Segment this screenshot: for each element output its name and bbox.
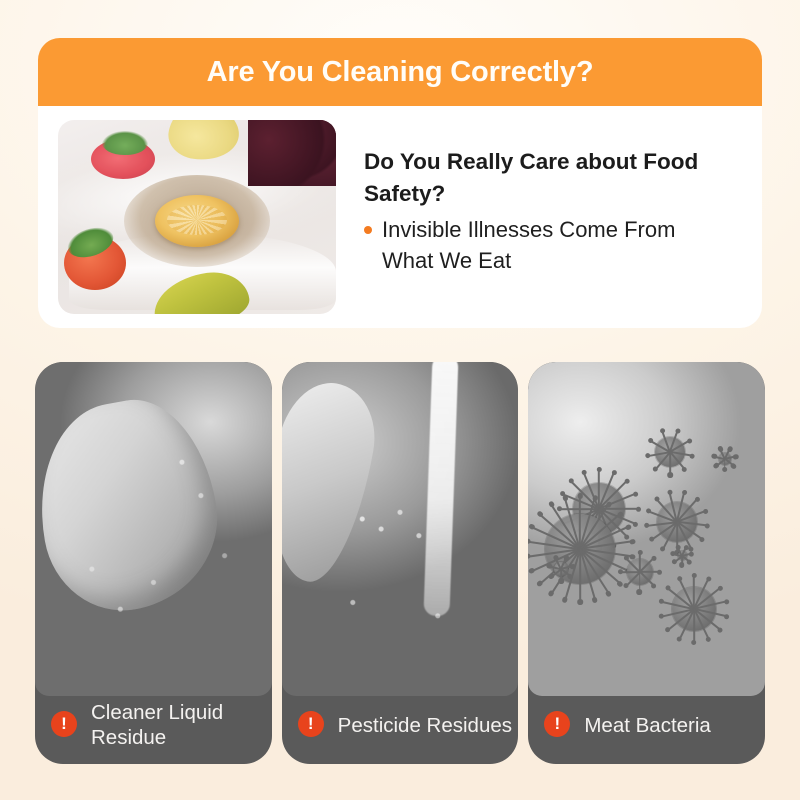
header-banner: Are You Cleaning Correctly? bbox=[38, 38, 762, 106]
hand-shape bbox=[35, 388, 231, 622]
lemon-slice-shape bbox=[155, 195, 239, 247]
bacteria-icon bbox=[678, 551, 687, 560]
vegetable-shape bbox=[282, 375, 384, 589]
meat-with-bacteria-image bbox=[528, 362, 765, 696]
poster-root: Are You Cleaning Correctly? Do You Reall… bbox=[0, 0, 800, 800]
food-in-water-image bbox=[58, 120, 336, 314]
info-heading: Do You Really Care about Food Safety? bbox=[364, 146, 724, 210]
warning-icon-glyph: ! bbox=[308, 715, 314, 732]
bacteria-icon bbox=[657, 502, 697, 542]
bacteria-spike bbox=[639, 572, 641, 592]
info-text-block: Do You Really Care about Food Safety? In… bbox=[336, 120, 744, 276]
bacteria-spike bbox=[693, 609, 695, 642]
running-water-over-vegetable-image bbox=[282, 362, 519, 696]
risk-panel: ! Pesticide Residues bbox=[282, 362, 519, 764]
bacteria-overlay bbox=[528, 362, 765, 696]
bacteria-spike bbox=[670, 452, 672, 475]
risk-panel: ! Cleaner Liquid Residue bbox=[35, 362, 272, 764]
panel-label-row: ! Meat Bacteria bbox=[528, 696, 765, 764]
info-bullet-row: Invisible Illnesses Come From What We Ea… bbox=[364, 214, 744, 276]
warning-icon: ! bbox=[51, 711, 77, 737]
bacteria-icon bbox=[655, 437, 685, 467]
panel-label-text: Cleaner Liquid Residue bbox=[91, 700, 266, 750]
page-title: Are You Cleaning Correctly? bbox=[207, 58, 594, 87]
panel-label-text: Meat Bacteria bbox=[584, 713, 710, 738]
bullet-dot-icon bbox=[364, 226, 372, 234]
bacteria-spike bbox=[724, 458, 734, 466]
bacteria-spike bbox=[639, 572, 654, 587]
tomato-shape bbox=[64, 236, 126, 290]
info-bullet-text: Invisible Illnesses Come From What We Ea… bbox=[382, 214, 732, 276]
hand-washing-vegetables-image bbox=[35, 362, 272, 696]
info-card: Do You Really Care about Food Safety? In… bbox=[38, 106, 762, 328]
warning-icon-glyph: ! bbox=[555, 715, 561, 732]
panel-label-row: ! Pesticide Residues bbox=[282, 696, 519, 764]
warning-icon-glyph: ! bbox=[61, 715, 67, 732]
risk-panel: ! Meat Bacteria bbox=[528, 362, 765, 764]
panel-label-text: Pesticide Residues bbox=[338, 713, 512, 738]
warning-icon: ! bbox=[298, 711, 324, 737]
bacteria-icon bbox=[719, 453, 731, 465]
warning-icon: ! bbox=[544, 711, 570, 737]
water-stream-shape bbox=[424, 362, 459, 616]
bacteria-icon bbox=[554, 562, 568, 576]
bacteria-icon bbox=[627, 559, 653, 585]
bacteria-icon bbox=[672, 587, 716, 631]
panel-label-row: ! Cleaner Liquid Residue bbox=[35, 696, 272, 764]
grapes-shape bbox=[248, 120, 336, 186]
risk-panels: ! Cleaner Liquid Residue ! Pesticide Res… bbox=[35, 362, 765, 764]
